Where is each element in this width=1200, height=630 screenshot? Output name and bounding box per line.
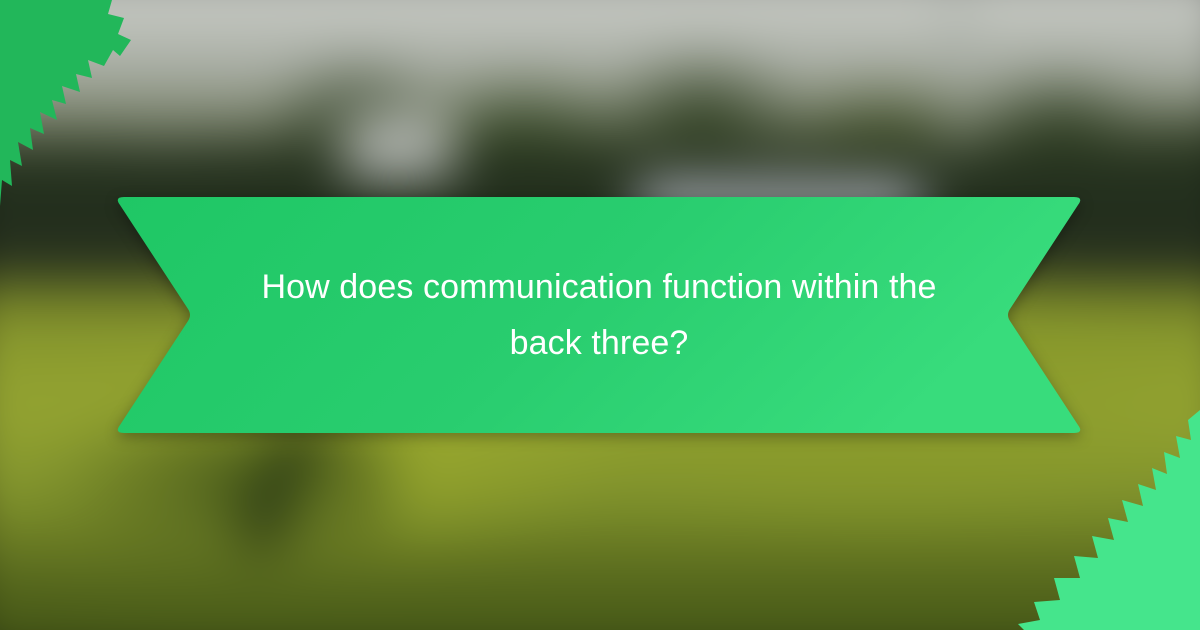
headline-text: How does communication function within t…	[228, 197, 970, 433]
torn-green-corner-top-left	[0, 0, 200, 230]
headline-ribbon: How does communication function within t…	[108, 197, 1090, 433]
torn-green-corner-bottom-right	[1010, 410, 1200, 630]
poster-canvas: How does communication function within t…	[0, 0, 1200, 630]
